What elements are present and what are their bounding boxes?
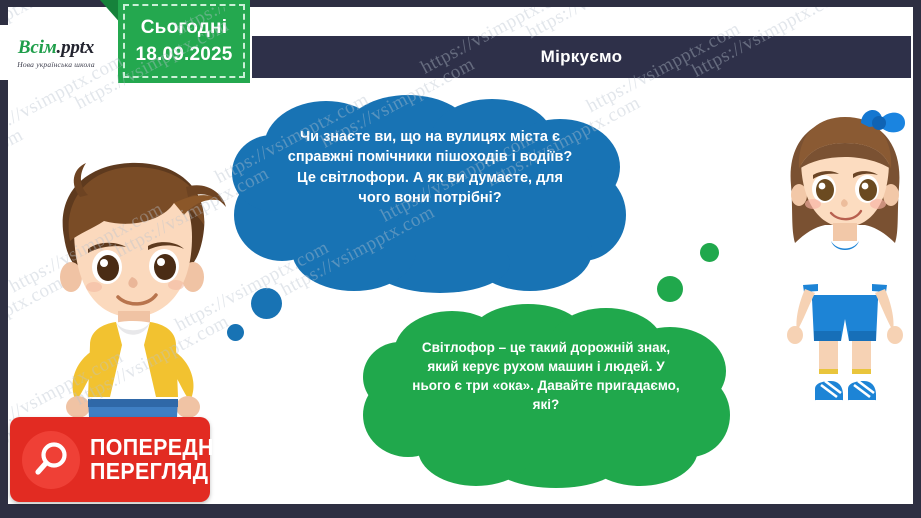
date-badge: Сьогодні 18.09.2025 (100, 0, 250, 84)
girl-character (765, 103, 913, 415)
preview-badge-line2: ПЕРЕГЛЯД (90, 460, 236, 483)
logo[interactable]: Всім.pptx Нова українська школа (0, 25, 112, 80)
date-badge-panel: Сьогодні 18.09.2025 (118, 0, 250, 83)
boy-character (26, 145, 241, 435)
logo-text-green: Всім (18, 37, 57, 58)
green-bubble-tail-large (657, 276, 683, 302)
preview-badge-line1: ПОПЕРЕДНІЙ (90, 436, 236, 459)
green-thought-bubble: Світлофор – це такий дорожній знак, який… (360, 303, 730, 488)
preview-badge[interactable]: ПОПЕРЕДНІЙ ПЕРЕГЛЯД (10, 417, 210, 502)
logo-subtitle: Нова українська школа (17, 60, 95, 69)
blue-thought-bubble: Чи знаєте ви, що на вулицях міста є спра… (230, 93, 630, 293)
preview-badge-labels: ПОПЕРЕДНІЙ ПЕРЕГЛЯД (90, 436, 247, 483)
page-title: Міркуємо (541, 47, 623, 67)
date-badge-label: Сьогодні (141, 17, 227, 39)
logo-text-dark: .pptx (57, 37, 95, 58)
green-bubble-text: Світлофор – це такий дорожній знак, який… (408, 339, 684, 415)
logo-wordmark: Всім.pptx (18, 37, 94, 59)
green-bubble-tail-small (700, 243, 719, 262)
slide-root: Чи знаєте ви, що на вулицях міста є спра… (0, 0, 921, 518)
watermark-text: https://vsimpptx.com (8, 124, 27, 223)
date-badge-date: 18.09.2025 (135, 44, 232, 66)
blue-bubble-text: Чи знаєте ви, що на вулицях міста є спра… (282, 127, 578, 208)
blue-bubble-tail-small (227, 324, 244, 341)
magnifier-icon (22, 431, 80, 489)
watermark-text: https://vsimpptx.com (789, 7, 913, 8)
header-bar: Міркуємо (252, 36, 911, 78)
